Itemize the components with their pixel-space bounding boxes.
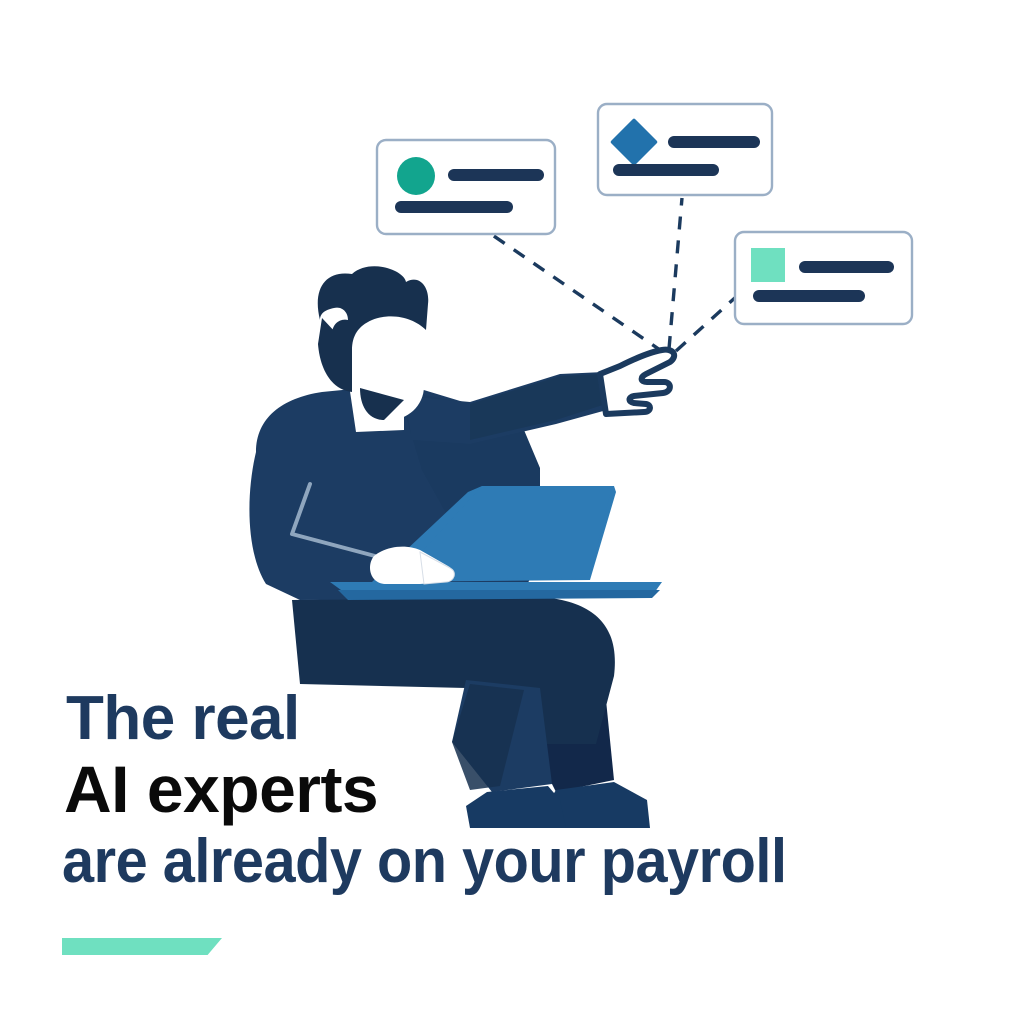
circle-icon [397,157,435,195]
headline-line-2: AI experts [64,758,992,821]
card-1-text-bar-top [448,169,544,181]
headline-line-3: are already on your payroll [62,833,927,892]
card-3-text-bar-bottom [753,290,865,302]
card-2[interactable] [598,104,772,195]
card-3[interactable] [735,232,912,324]
headline-block: The real AI experts are already on your … [62,690,992,891]
card-3-text-bar-top [799,261,894,273]
square-icon [751,248,785,282]
card-2-text-bar-bottom [613,164,719,176]
card-1[interactable] [377,140,555,234]
card-2-text-bar-top [668,136,760,148]
card-1-text-bar-bottom [395,201,513,213]
illustration-canvas: The real AI experts are already on your … [0,0,1024,1024]
headline-line-1: The real [66,690,992,749]
accent-underline-bar [62,938,222,955]
